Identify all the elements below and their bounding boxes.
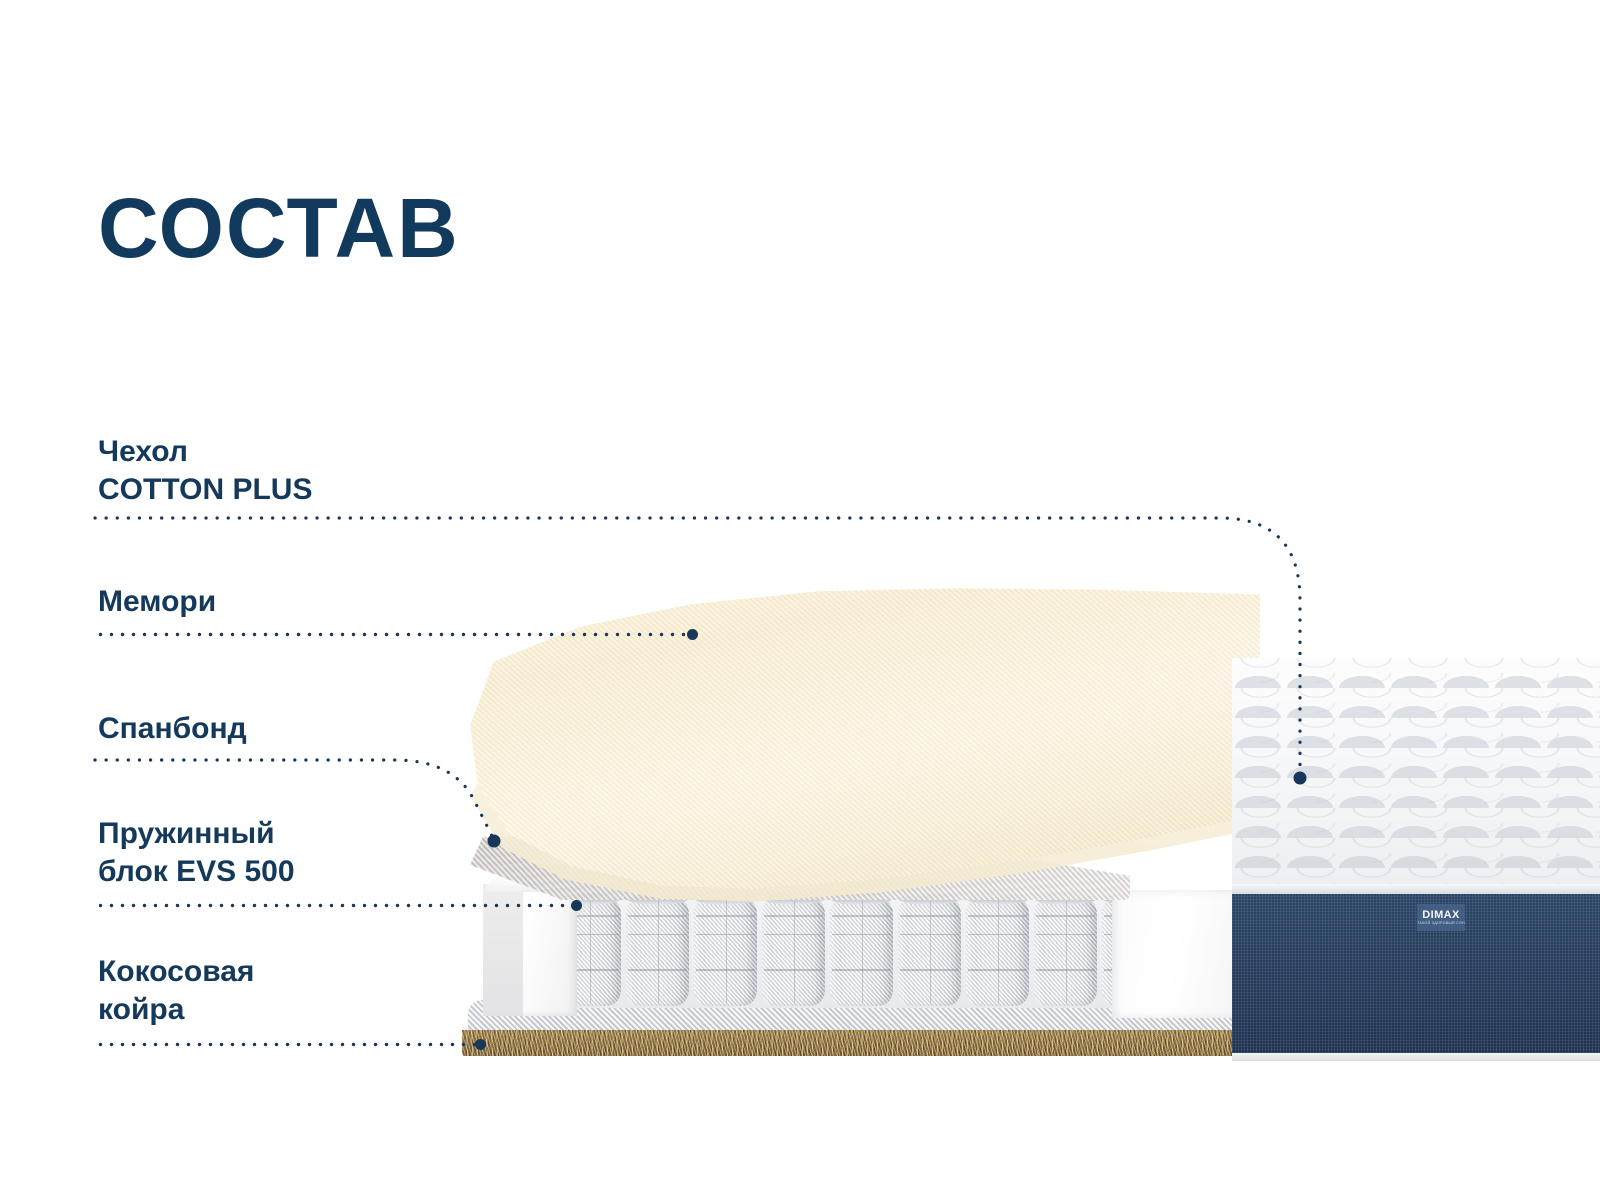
legend-label-spunbond: Спанбонд: [98, 710, 247, 748]
leader-dot-coir: [475, 1039, 486, 1050]
legend-item-cover[interactable]: Чехол COTTON PLUS: [98, 433, 312, 509]
pocket-spring-seam: [794, 901, 796, 1003]
legend-item-spring-block[interactable]: Пружинный блок EVS 500: [98, 815, 295, 891]
pocket-spring: [1034, 898, 1097, 1006]
pocket-spring: [966, 898, 1029, 1006]
legend-label-cover: Чехол COTTON PLUS: [98, 433, 312, 509]
leader-line-coir: [95, 1042, 477, 1047]
leader-dot-spring-block: [571, 900, 582, 911]
pocket-spring: [830, 898, 893, 1006]
dimax-brand-tagline: ТАКОЙ ЗДОРОВЫЙ СОН: [1417, 922, 1465, 926]
legend-label-spring-block: Пружинный блок EVS 500: [98, 815, 295, 891]
pocket-spring-seam: [862, 901, 864, 1003]
pocket-spring: [762, 898, 825, 1006]
pocket-spring-seam: [998, 901, 1000, 1003]
pocket-spring: [694, 898, 757, 1006]
dimax-brand-name: DIMAX: [1422, 910, 1459, 921]
pocket-spring-seam: [590, 901, 592, 1003]
pocket-spring-seam: [658, 901, 660, 1003]
infographic-page: СОСТАВ DIMAX ТАКОЙ ЗДОРОВЫЙ СОН: [0, 0, 1600, 1201]
leader-line-spring-block: [95, 903, 573, 908]
coir-layer: [462, 1030, 1252, 1056]
legend-label-coir: Кокосовая койра: [98, 953, 254, 1029]
mattress-side-hem: [1232, 1053, 1600, 1061]
dimax-brand-badge: DIMAX ТАКОЙ ЗДОРОВЫЙ СОН: [1417, 904, 1465, 931]
legend-item-coir[interactable]: Кокосовая койра: [98, 953, 254, 1029]
pocket-spring: [626, 898, 689, 1006]
pocket-spring-seam: [1066, 901, 1068, 1003]
legend-label-memory: Мемори: [98, 583, 216, 621]
legend-item-memory[interactable]: Мемори: [98, 583, 216, 621]
pocket-spring-seam: [726, 901, 728, 1003]
mattress-side-band: [1232, 894, 1600, 1059]
perimeter-foam-right: [1112, 890, 1252, 1018]
pocket-spring: [898, 898, 961, 1006]
leader-line-memory: [95, 632, 692, 637]
legend-item-spunbond[interactable]: Спанбонд: [98, 710, 247, 748]
pocket-spring-seam: [930, 901, 932, 1003]
leader-dot-memory: [687, 629, 698, 640]
